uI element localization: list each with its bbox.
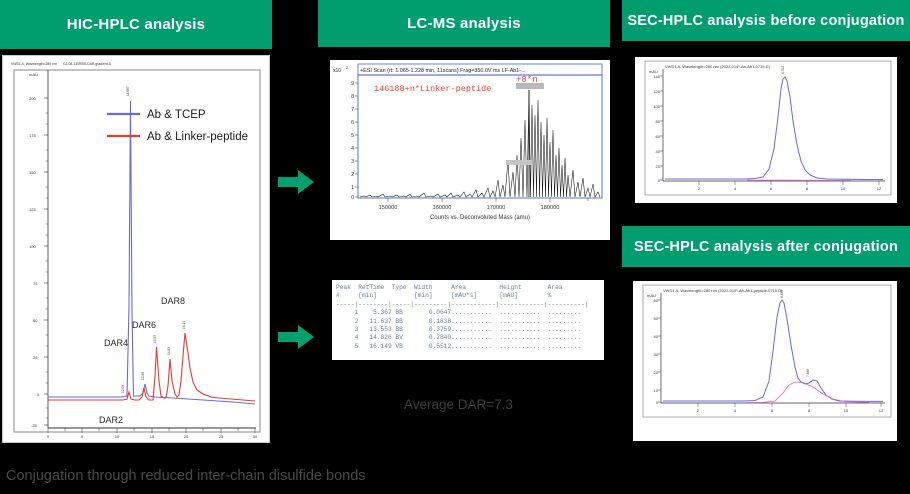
svg-text:60: 60 (654, 298, 659, 303)
svg-text:0: 0 (351, 195, 354, 201)
lcms-xtick-2: 170000 (487, 205, 506, 211)
svg-text:10: 10 (844, 408, 849, 413)
svg-text:50: 50 (33, 318, 38, 323)
peak-table-card: Peak RetTime Type Width Area Height Area… (332, 280, 604, 360)
svg-text:15: 15 (150, 434, 155, 439)
svg-text:200: 200 (29, 96, 36, 101)
svg-text:13.55: 13.55 (153, 335, 157, 343)
svg-text:-25: -25 (31, 423, 38, 428)
svg-text:100: 100 (653, 104, 660, 109)
hic-hplc-chart-card: VWD1 A, Wavelength=280 nm GJ-08-130RBS-D… (2, 55, 270, 443)
lcms-chart-card: +ESI Scan (rt: 1.065-1.228 min, 11scans)… (330, 60, 610, 240)
figure-caption: Conjugation through reduced inter-chain … (6, 468, 366, 484)
svg-text:10: 10 (654, 388, 659, 393)
header-sec-after-label: SEC-HPLC analysis after conjugation (634, 239, 898, 255)
lcms-title: +ESI Scan (rt: 1.065-1.228 min, 11scans)… (360, 68, 526, 74)
svg-text:2: 2 (351, 172, 354, 178)
sec-before-chart: VWD1 A, Wavelength=280 nm (2022-01/F-Ab-… (635, 57, 897, 203)
svg-text:12.88: 12.88 (141, 372, 145, 380)
hic-peak-label-dar2: DAR2 (99, 415, 123, 425)
svg-text:25: 25 (219, 434, 224, 439)
arrow-hic-to-lcms (276, 168, 316, 196)
peak-table: Peak RetTime Type Width Area Height Area… (336, 284, 589, 351)
sec-after-title: VWD1 A, Wavelength=280 nm (2022-01/F-Ab-… (663, 288, 783, 293)
svg-text:120: 120 (653, 89, 660, 94)
svg-text:5: 5 (351, 133, 354, 139)
lcms-xtick-1: 160000 (433, 205, 452, 211)
header-lc-ms: LC-MS analysis (318, 0, 610, 47)
svg-text:125: 125 (29, 207, 36, 212)
arrow-hic-to-table (276, 323, 316, 351)
svg-text:100: 100 (29, 244, 36, 249)
hic-hplc-chart: VWD1 A, Wavelength=280 nm GJ-08-130RBS-D… (3, 56, 269, 442)
free-drug-ratio-caption: Free dug ratio (762, 420, 855, 437)
svg-text:20: 20 (656, 164, 661, 169)
svg-text:175: 175 (29, 133, 36, 138)
average-dar-caption: Average DAR=7.3 (404, 397, 513, 412)
svg-text:25: 25 (33, 355, 38, 360)
svg-text:6.405: 6.405 (780, 290, 784, 298)
lcms-spectrum-chart: +ESI Scan (rt: 1.065-1.228 min, 11scans)… (330, 60, 610, 240)
svg-text:3: 3 (351, 159, 354, 165)
svg-text:10: 10 (115, 434, 120, 439)
hic-legend-label-1: Ab & Linker-peptide (147, 131, 248, 143)
svg-text:11.687: 11.687 (126, 86, 130, 96)
svg-text:12: 12 (879, 408, 884, 413)
svg-text:20: 20 (654, 370, 659, 375)
svg-text:6: 6 (351, 120, 354, 126)
sec-after-chart-card: VWD1 A, Wavelength=280 nm (2022-01/F-Ab-… (633, 281, 897, 441)
sec-after-chart: VWD1 A, Wavelength=280 nm (2022-01/F-Ab-… (633, 281, 897, 441)
lcms-annotation-increment: +8*n (516, 75, 538, 85)
hic-peak-label-dar8: DAR8 (161, 296, 185, 306)
svg-text:30: 30 (654, 352, 659, 357)
sec-before-chart-card: VWD1 A, Wavelength=280 nm (2022-01/F-Ab-… (635, 57, 897, 203)
svg-text:150: 150 (29, 170, 36, 175)
lcms-xaxis-label: Counts vs. Deconvoluted Mass (amu) (430, 215, 530, 221)
svg-text:30: 30 (253, 434, 258, 439)
svg-text:80: 80 (656, 119, 661, 124)
lcms-xtick-0: 150000 (379, 205, 398, 211)
svg-text:14.82: 14.82 (167, 347, 171, 355)
svg-text:50: 50 (654, 316, 659, 321)
sec-before-title: VWD1 A, Wavelength=280 nm (2022-01/F-Ab-… (665, 64, 771, 69)
svg-text:60: 60 (656, 134, 661, 139)
lcms-xtick-3: 180000 (541, 205, 560, 211)
svg-text:7.486: 7.486 (806, 369, 810, 377)
svg-text:6.702: 6.702 (781, 66, 785, 74)
header-sec-before-label: SEC-HPLC analysis before conjugation (627, 13, 904, 29)
svg-text:75: 75 (33, 281, 38, 286)
svg-text:16.14: 16.14 (182, 321, 186, 329)
svg-text:40: 40 (654, 334, 659, 339)
header-sec-after: SEC-HPLC analysis after conjugation (622, 226, 910, 267)
svg-text:1: 1 (351, 185, 354, 191)
svg-text:12.08: 12.08 (121, 385, 125, 393)
svg-text:40: 40 (656, 149, 661, 154)
hic-peak-label-dar6: DAR6 (132, 320, 156, 330)
svg-text:20: 20 (184, 434, 189, 439)
svg-text:7: 7 (351, 107, 354, 113)
hic-peak-label-dar4: DAR4 (104, 338, 128, 348)
svg-text:GJ-08-130RBS-DAR-gradient.D: GJ-08-130RBS-DAR-gradient.D (63, 62, 112, 66)
svg-text:9: 9 (351, 81, 354, 87)
header-sec-before: SEC-HPLC analysis before conjugation (622, 0, 910, 41)
header-hic-hplc-label: HIC-HPLC analysis (67, 16, 205, 33)
svg-text:140: 140 (653, 74, 660, 79)
svg-text:8: 8 (351, 94, 354, 100)
svg-text:mAU: mAU (29, 72, 38, 77)
peak-table-content: Peak RetTime Type Width Area Height Area… (336, 284, 589, 350)
svg-text:VWD1 A, Wavelength=280 nm: VWD1 A, Wavelength=280 nm (11, 62, 57, 66)
header-lc-ms-label: LC-MS analysis (407, 15, 521, 32)
svg-text:4: 4 (351, 146, 354, 152)
svg-text:x10: x10 (333, 68, 341, 74)
header-hic-hplc: HIC-HPLC analysis (0, 0, 272, 49)
hic-legend-label-0: Ab & TCEP (147, 109, 206, 121)
lcms-annotation-mass: 146188+n*Linker-peptide (374, 84, 491, 94)
svg-text:12: 12 (877, 186, 882, 191)
svg-text:10: 10 (841, 186, 846, 191)
